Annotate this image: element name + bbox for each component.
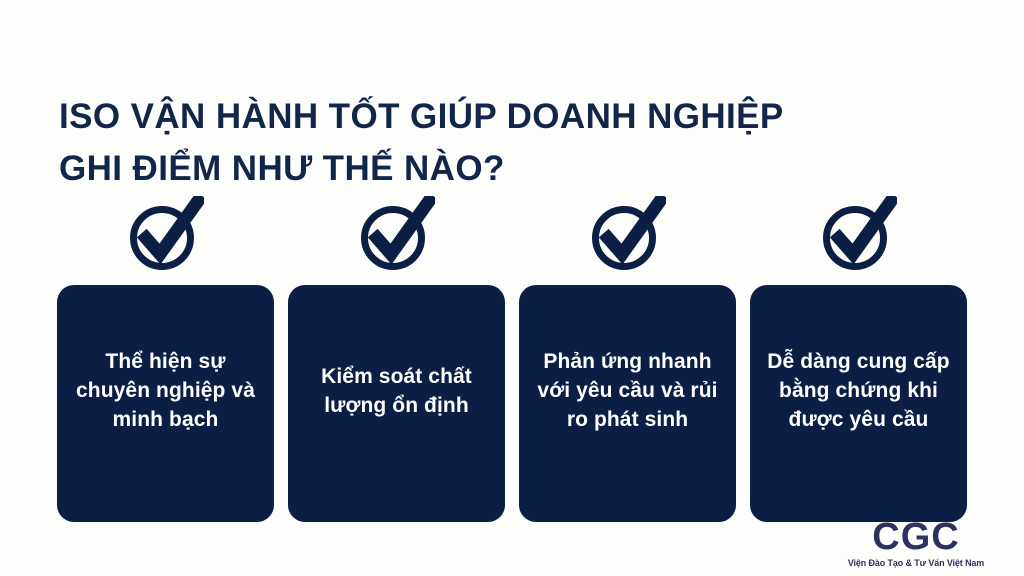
benefit-card: Phản ứng nhanh với yêu cầu và rủi ro phá… (519, 285, 736, 522)
check-circle-icon (359, 196, 435, 274)
benefit-card-text: Thể hiện sự chuyên nghiệp và minh bạch (67, 347, 264, 434)
benefit-column-1: Thể hiện sự chuyên nghiệp và minh bạch (57, 196, 274, 522)
cgc-logo-tagline: Viện Đào Tạo & Tư Vấn Việt Nam (841, 559, 991, 569)
check-circle-icon (590, 196, 666, 274)
benefit-column-2: Kiểm soát chất lượng ổn định (288, 196, 505, 522)
benefit-card-text: Phản ứng nhanh với yêu cầu và rủi ro phá… (529, 347, 726, 434)
benefit-card: Dễ dàng cung cấp bằng chứng khi được yêu… (750, 285, 967, 522)
infographic-slide: ISO VẬN HÀNH TỐT GIÚP DOANH NGHIỆP GHI Đ… (0, 0, 1024, 576)
benefit-card-text: Kiểm soát chất lượng ổn định (298, 362, 495, 420)
page-title-line-2: GHI ĐIỂM NHƯ THẾ NÀO? (59, 143, 969, 195)
cgc-logo: CGC Viện Đào Tạo & Tư Vấn Việt Nam (836, 518, 996, 569)
benefit-card: Thể hiện sự chuyên nghiệp và minh bạch (57, 285, 274, 522)
benefit-column-3: Phản ứng nhanh với yêu cầu và rủi ro phá… (519, 196, 736, 522)
page-title-line-1: ISO VẬN HÀNH TỐT GIÚP DOANH NGHIỆP (59, 91, 969, 143)
page-title: ISO VẬN HÀNH TỐT GIÚP DOANH NGHIỆP GHI Đ… (59, 91, 969, 195)
benefit-card: Kiểm soát chất lượng ổn định (288, 285, 505, 522)
benefit-column-4: Dễ dàng cung cấp bằng chứng khi được yêu… (750, 196, 967, 522)
check-circle-icon (128, 196, 204, 274)
benefit-card-text: Dễ dàng cung cấp bằng chứng khi được yêu… (760, 347, 957, 434)
check-circle-icon (821, 196, 897, 274)
benefit-card-list: Thể hiện sự chuyên nghiệp và minh bạch K… (57, 196, 967, 522)
cgc-logo-mark: CGC (836, 518, 996, 556)
